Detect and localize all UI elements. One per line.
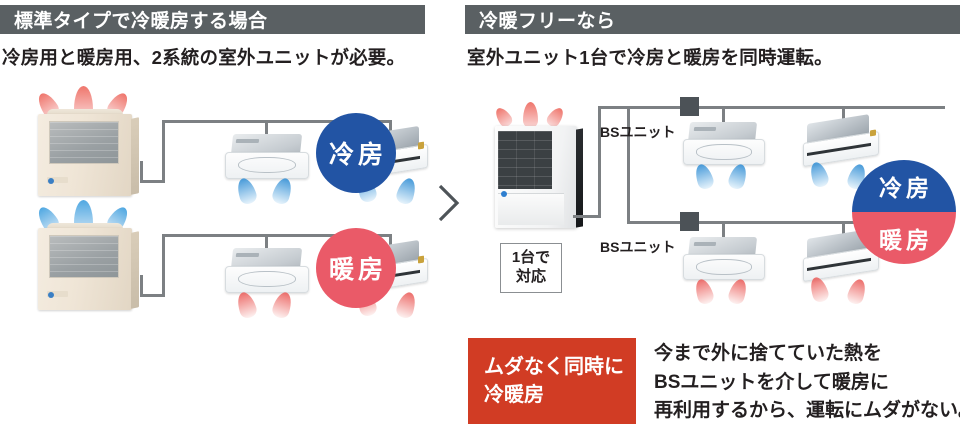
pipe-vrv-out: [573, 215, 601, 218]
callout-desc-line3: 再利用するから、運転にムダがない。: [654, 397, 960, 426]
airflow-heat-right-2: [811, 277, 875, 305]
bs-unit-top-icon: [680, 97, 699, 116]
right-panel-subtitle: 室外ユニット1台で冷房と暖房を同時運転。: [467, 44, 833, 70]
outdoor-capacity-note-line2: 対応: [516, 268, 546, 287]
callout-red-box: ムダなく同時に 冷暖房: [468, 338, 636, 424]
badge-heating-left: 暖房: [316, 228, 396, 308]
left-panel-header-label: 標準タイプで冷暖房する場合: [14, 6, 268, 33]
chevron-right-icon: [436, 183, 462, 228]
badge-cooling-heating-combined: 冷房 暖房: [852, 160, 956, 264]
badge-cooling-left-label: 冷房: [325, 135, 387, 171]
badge-heating-left-label: 暖房: [325, 250, 387, 286]
airflow-heat-right-1: [694, 279, 754, 307]
callout-desc-line2: BSユニットを介して暖房に: [654, 369, 960, 398]
pipe-left-vertical-2: [162, 234, 165, 296]
pipe-branch-cooling: [627, 106, 945, 109]
right-panel-header: 冷暖フリーなら: [465, 5, 960, 34]
bs-unit-bottom-label: BSユニット: [600, 237, 675, 257]
pipe-left-vertical: [162, 120, 165, 182]
bs-unit-top-label: BSユニット: [600, 122, 675, 142]
left-panel-subtitle: 冷房用と暖房用、2系統の室外ユニットが必要。: [2, 44, 405, 70]
outdoor-capacity-note: 1台で 対応: [500, 243, 562, 293]
airflow-heat-indoor-1: [236, 292, 298, 320]
left-panel-header: 標準タイプで冷暖房する場合: [0, 5, 425, 34]
callout-box-line1: ムダなく同時に: [484, 353, 636, 381]
outdoor-unit-cooling: [38, 114, 132, 196]
infographic-canvas: 標準タイプで冷暖房する場合 冷房用と暖房用、2系統の室外ユニットが必要。: [0, 0, 960, 430]
pipe-vrv-top-stub: [598, 106, 630, 109]
outdoor-capacity-note-line1: 1台で: [512, 249, 550, 268]
badge-combined-cooling-label: 冷房: [875, 169, 933, 203]
airflow-cool-right-1: [694, 164, 754, 192]
outdoor-exhaust-hot-vrv: [495, 102, 575, 128]
callout-desc-line1: 今まで外に捨てていた熱を: [654, 340, 960, 369]
bs-unit-bottom-icon: [680, 212, 699, 231]
outdoor-unit-heating: [38, 228, 132, 310]
outdoor-unit-vrv: [495, 126, 577, 228]
badge-cooling-left: 冷房: [316, 113, 396, 193]
right-panel-header-label: 冷暖フリーなら: [479, 6, 616, 33]
callout-box-line2: 冷暖房: [484, 381, 636, 409]
callout-description: 今まで外に捨てていた熱を BSユニットを介して暖房に 再利用するから、運転にムダ…: [654, 340, 960, 426]
badge-combined-heating-label: 暖房: [875, 221, 933, 255]
